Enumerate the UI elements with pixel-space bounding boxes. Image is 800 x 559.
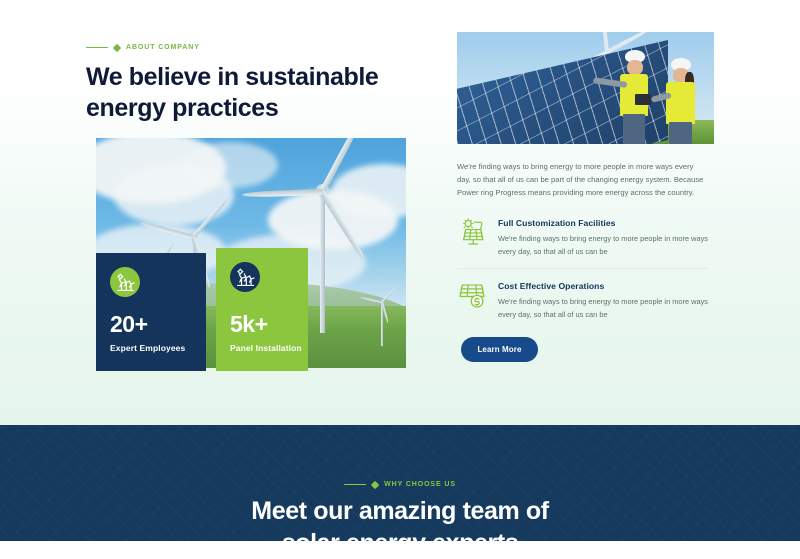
about-company-section: ABOUT COMPANY We believe in sustainable … bbox=[0, 0, 800, 425]
why-choose-eyebrow: WHY CHOOSE US bbox=[344, 481, 456, 488]
feature-item-cost-effective: Cost Effective Operations We're finding … bbox=[457, 268, 709, 331]
feature-description: We're finding ways to bring energy to mo… bbox=[498, 233, 709, 258]
eyebrow-diamond-icon bbox=[371, 480, 379, 488]
wind-turbine-shape bbox=[374, 288, 406, 348]
why-choose-title-line1: Meet our amazing team of bbox=[251, 497, 548, 525]
eyebrow-diamond-icon bbox=[113, 43, 121, 51]
learn-more-button[interactable]: Learn More bbox=[461, 337, 538, 362]
feature-list: Full Customization Facilities We're find… bbox=[457, 214, 709, 332]
feature-description: We're finding ways to bring energy to mo… bbox=[498, 296, 709, 321]
stat-value: 20+ bbox=[110, 311, 148, 338]
stat-card-expert-employees: 20+ Expert Employees bbox=[96, 253, 206, 371]
cloud-shape bbox=[182, 142, 278, 188]
stat-label: Expert Employees bbox=[110, 343, 185, 353]
why-choose-us-section: WHY CHOOSE US Meet our amazing team of s… bbox=[0, 425, 800, 541]
solar-panel-dollar-icon bbox=[457, 280, 487, 310]
stat-label: Panel Installation bbox=[230, 343, 302, 353]
feature-title: Cost Effective Operations bbox=[498, 281, 709, 291]
wind-turbine-icon bbox=[230, 262, 260, 292]
stat-card-panel-installation: 5k+ Panel Installation bbox=[216, 248, 308, 371]
about-eyebrow-label: ABOUT COMPANY bbox=[126, 44, 200, 51]
eyebrow-rule-icon bbox=[86, 47, 108, 48]
wind-turbine-icon bbox=[110, 267, 140, 297]
about-title: We believe in sustainable energy practic… bbox=[86, 62, 426, 124]
why-choose-title-line2: solar energy experts bbox=[282, 529, 519, 557]
feature-title: Full Customization Facilities bbox=[498, 218, 709, 228]
why-choose-title: Meet our amazing team of solar energy ex… bbox=[0, 495, 800, 559]
solar-panel-sun-icon bbox=[457, 217, 487, 247]
about-eyebrow: ABOUT COMPANY bbox=[86, 44, 200, 51]
solar-engineers-hero-image bbox=[457, 32, 714, 144]
why-choose-eyebrow-label: WHY CHOOSE US bbox=[384, 481, 456, 488]
stat-value: 5k+ bbox=[230, 311, 268, 338]
eyebrow-rule-icon bbox=[344, 484, 366, 485]
worker-figure bbox=[653, 58, 709, 144]
feature-item-full-customization: Full Customization Facilities We're find… bbox=[457, 214, 709, 268]
about-description: We're finding ways to bring energy to mo… bbox=[457, 160, 709, 199]
tablet-icon bbox=[635, 94, 651, 105]
